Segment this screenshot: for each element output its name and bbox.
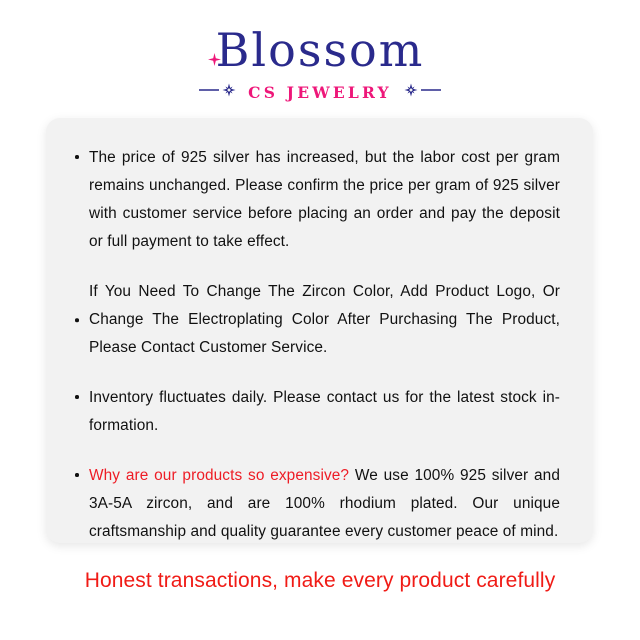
bullet-text: If You Need To Change The Zircon Color, … bbox=[89, 283, 560, 356]
list-item: Why are our products so expensive? We us… bbox=[75, 462, 560, 546]
brand-subtitle: CS JEWELRY bbox=[248, 83, 392, 102]
bullet-dot-icon bbox=[75, 473, 79, 477]
bullet-text: The price of 925 silver has increased, b… bbox=[89, 149, 560, 250]
bullet-dot-icon bbox=[75, 318, 79, 322]
brand-title: Blossom bbox=[202, 26, 439, 74]
notice-card: The price of 925 silver has increased, b… bbox=[46, 118, 593, 543]
bullet-lead-question: Why are our products so expensive? bbox=[89, 467, 349, 484]
ornament-right-icon bbox=[399, 82, 441, 103]
footer-tagline: Honest transactions, make every product … bbox=[0, 569, 640, 593]
bullet-dot-icon bbox=[75, 395, 79, 399]
notice-bullet-list: The price of 925 silver has increased, b… bbox=[75, 144, 560, 546]
list-item: Inventory fluctuates daily. Please conta… bbox=[75, 384, 560, 440]
brand-subtitle-row: CS JEWELRY bbox=[0, 82, 640, 103]
ornament-left-icon bbox=[199, 82, 241, 103]
list-item: If You Need To Change The Zircon Color, … bbox=[75, 278, 560, 362]
list-item: The price of 925 silver has increased, b… bbox=[75, 144, 560, 256]
brand-logo: Blossom bbox=[202, 26, 439, 74]
bullet-dot-icon bbox=[75, 155, 79, 159]
bullet-text: Inventory fluctuates daily. Please conta… bbox=[89, 389, 560, 434]
brand-header: Blossom CS JEWELRY bbox=[0, 0, 640, 103]
